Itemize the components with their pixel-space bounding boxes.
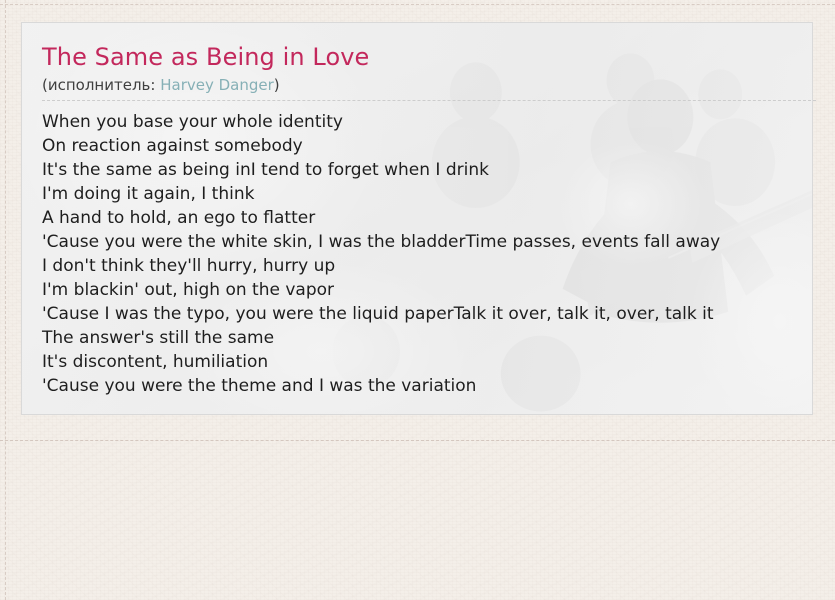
- lyric-line: When you base your whole identity: [42, 110, 812, 134]
- page-guide-line-top: [0, 4, 835, 5]
- lyric-line: 'Cause you were the theme and I was the …: [42, 374, 812, 398]
- artist-row: (исполнитель: Harvey Danger): [42, 75, 812, 95]
- lyric-line: I'm doing it again, I think: [42, 182, 812, 206]
- header-divider: [42, 100, 816, 101]
- lyric-line: On reaction against somebody: [42, 134, 812, 158]
- lyric-line: It's discontent, humiliation: [42, 350, 812, 374]
- page-guide-line-left: [5, 0, 6, 600]
- lyric-line: It's the same as being inI tend to forge…: [42, 158, 812, 182]
- lyric-line: I don't think they'll hurry, hurry up: [42, 254, 812, 278]
- card-content: The Same as Being in Love (исполнитель: …: [22, 23, 812, 398]
- lyric-line: The answer's still the same: [42, 326, 812, 350]
- lyrics-body: When you base your whole identity On rea…: [42, 110, 812, 398]
- lyric-line: I'm blackin' out, high on the vapor: [42, 278, 812, 302]
- artist-link[interactable]: Harvey Danger: [160, 76, 274, 94]
- page-guide-line-middle: [0, 440, 835, 441]
- lyric-line: 'Cause you were the white skin, I was th…: [42, 230, 812, 254]
- lyric-line: 'Cause I was the typo, you were the liqu…: [42, 302, 812, 326]
- artist-label: (исполнитель:: [42, 76, 155, 94]
- artist-close-paren: ): [274, 76, 280, 94]
- lyric-line: A hand to hold, an ego to flatter: [42, 206, 812, 230]
- lyrics-card: The Same as Being in Love (исполнитель: …: [21, 22, 813, 415]
- song-title: The Same as Being in Love: [42, 42, 812, 72]
